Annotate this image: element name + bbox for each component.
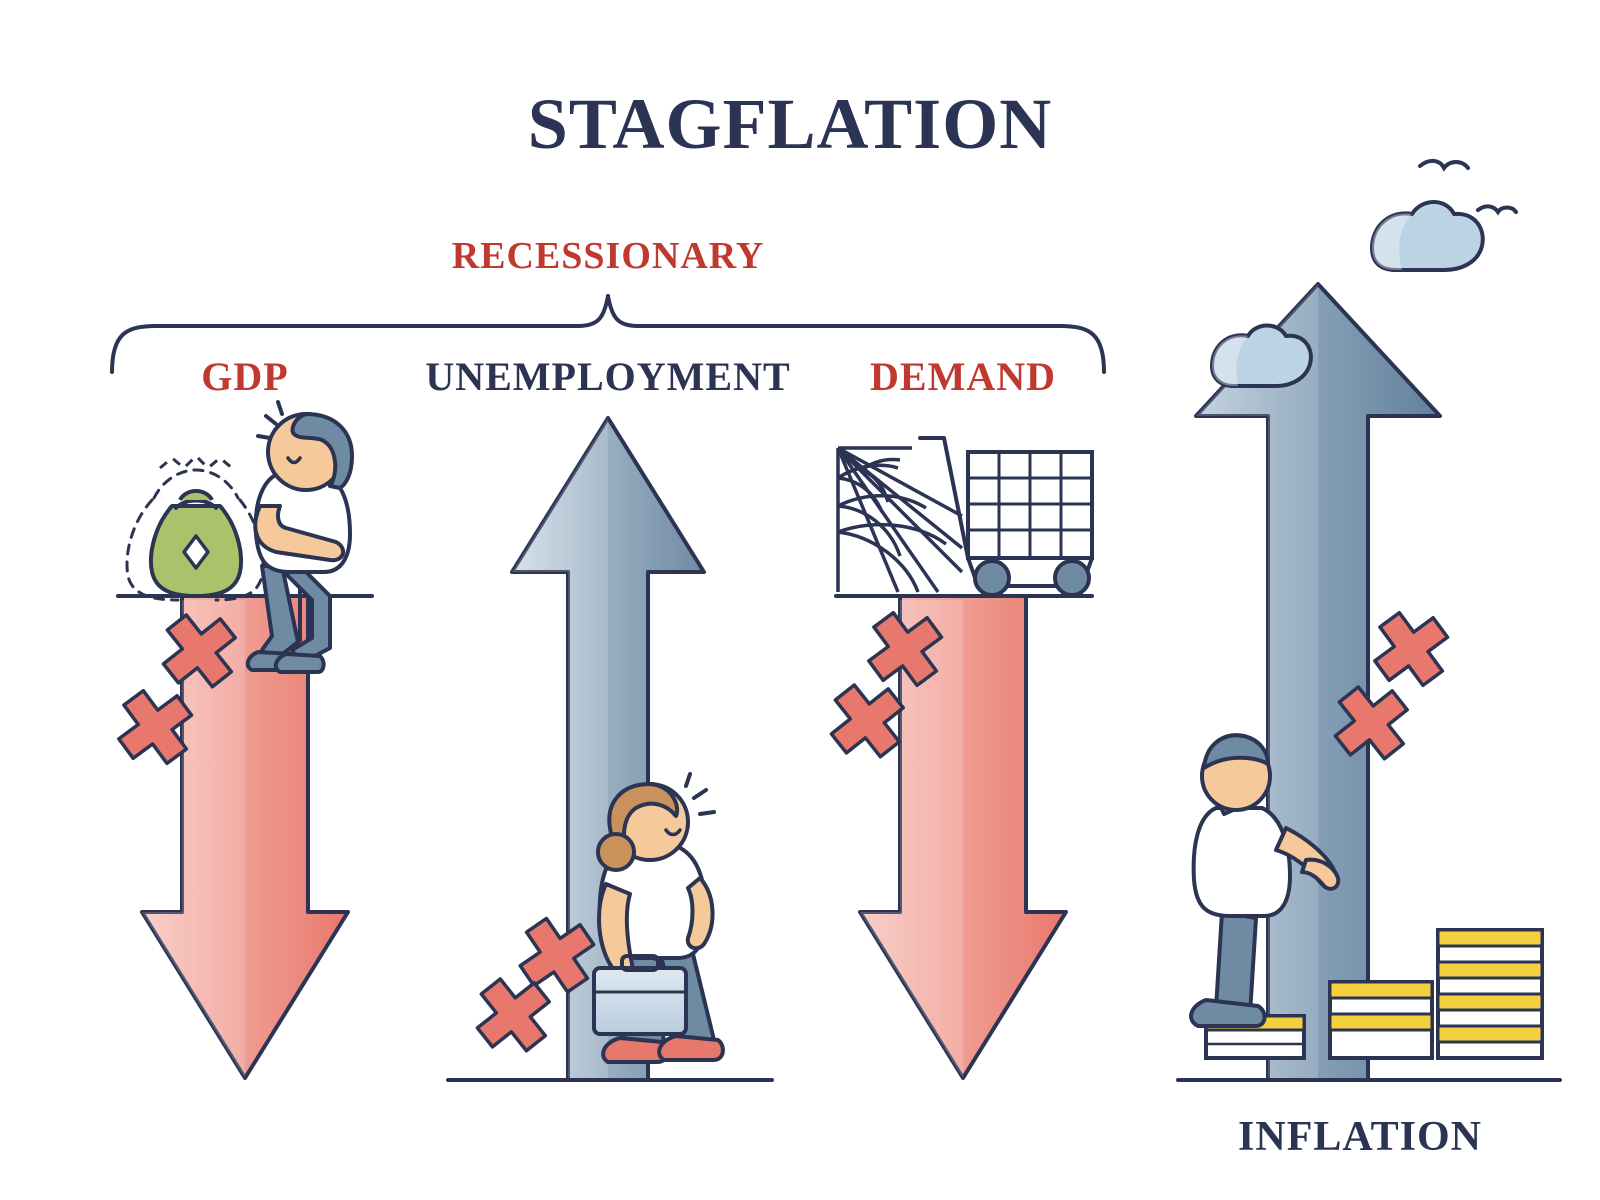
recessionary-label: RECESSIONARY bbox=[452, 235, 765, 277]
column-label-unemployment: UNEMPLOYMENT bbox=[425, 354, 790, 399]
inflation-label: INFLATION bbox=[1238, 1114, 1482, 1160]
infographic-canvas: STAGFLATION RECESSIONARY GDP UNEMPLOYMEN… bbox=[0, 0, 1600, 1200]
column-label-gdp: GDP bbox=[201, 354, 288, 399]
column-label-demand: DEMAND bbox=[870, 354, 1056, 399]
coin-stack-tall bbox=[1438, 930, 1542, 1058]
coin-stack-medium bbox=[1330, 982, 1432, 1058]
page-title: STAGFLATION bbox=[528, 84, 1052, 164]
